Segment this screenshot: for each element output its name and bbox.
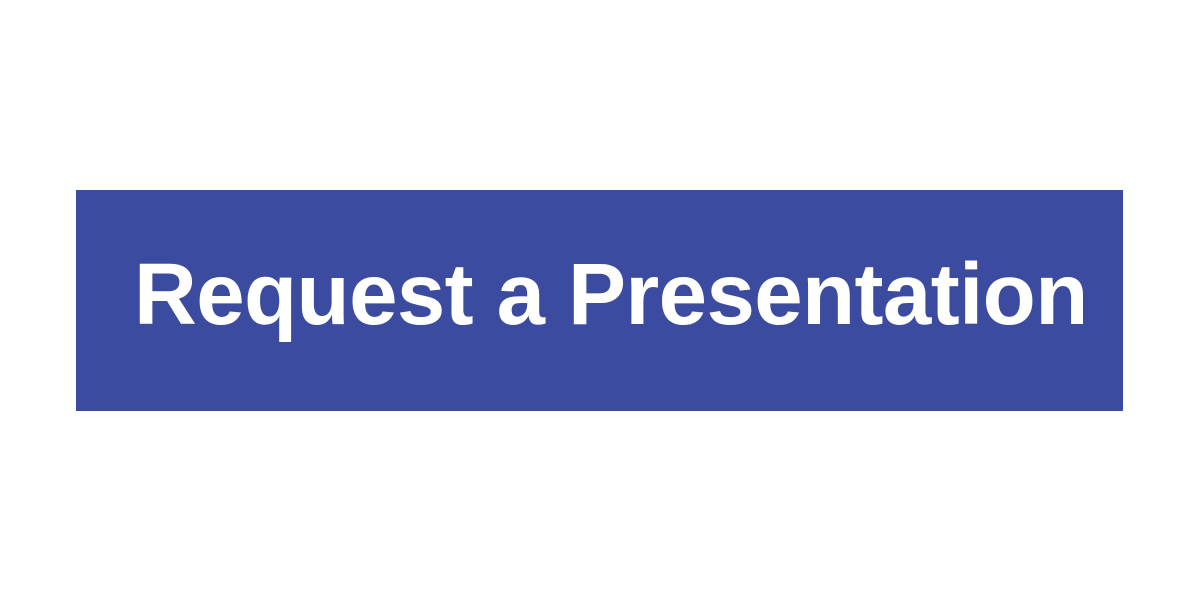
- request-presentation-label: Request a Presentation: [134, 251, 1088, 338]
- page-canvas: Request a Presentation: [0, 0, 1200, 600]
- request-presentation-banner[interactable]: Request a Presentation: [76, 190, 1123, 411]
